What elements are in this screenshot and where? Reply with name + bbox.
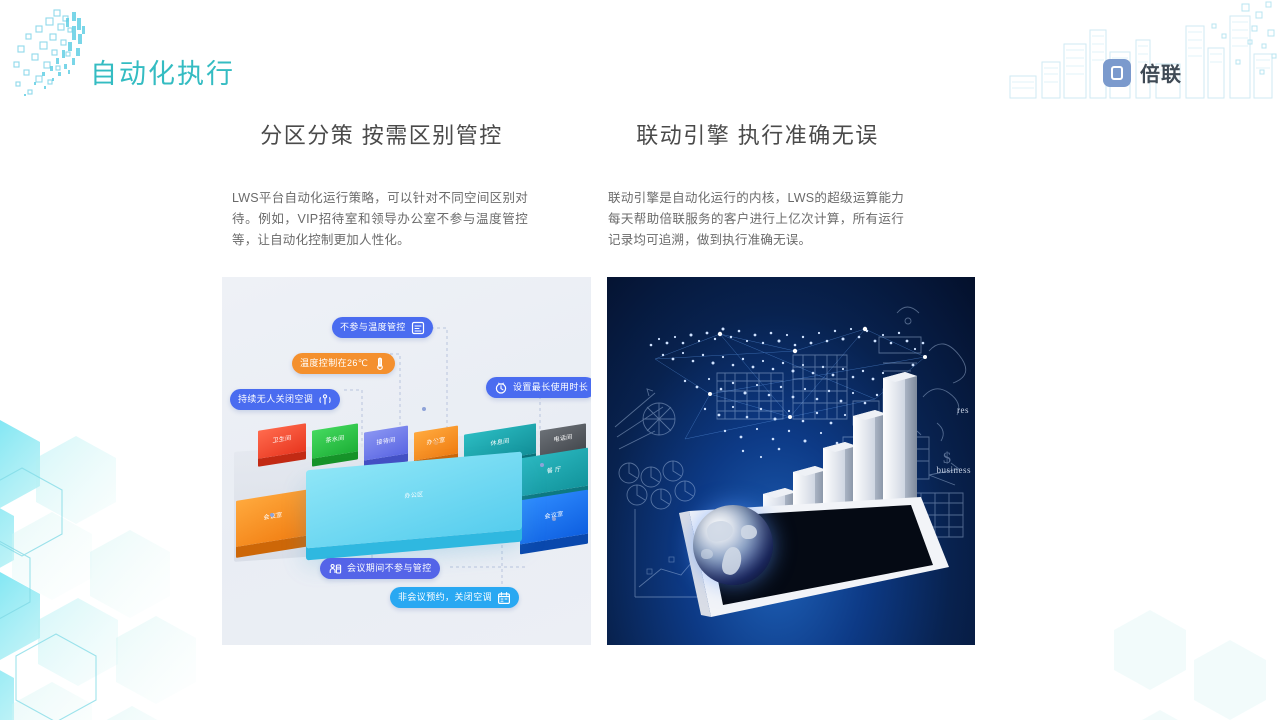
column-right-body: 联动引擎是自动化运行的内核，LWS的超级运算能力每天帮助倍联服务的客户进行上亿次…	[608, 188, 904, 251]
pill-no-temp-control[interactable]: 不参与温度管控	[332, 317, 433, 338]
globe-graphic	[693, 505, 773, 585]
slide-root: 自动化执行 倍联 分区分策 按需区别管控 LWS平台自动化运行策略，可以针对不同…	[0, 0, 1280, 720]
pill-label: 不参与温度管控	[340, 323, 406, 332]
rounded-square-logo-icon	[1103, 59, 1131, 87]
room-label: 餐 厅	[547, 463, 562, 474]
pill-label: 设置最长使用时长	[513, 383, 588, 392]
pill-temp-26[interactable]: 温度控制在26℃	[292, 353, 395, 374]
meeting-people-icon	[328, 562, 342, 576]
anchor-dot	[422, 407, 426, 411]
room-label: 办公区	[405, 489, 424, 500]
floor-plan-figure: 不参与温度管控 温度控制在26℃ 持续无人关闭空调	[222, 277, 591, 645]
brand-logo: 倍联	[1103, 58, 1182, 87]
room-label: 茶水间	[326, 432, 345, 444]
occupancy-sensor-icon	[318, 393, 332, 407]
pill-meeting-exempt[interactable]: 会议期间不参与管控	[320, 558, 440, 579]
pill-max-duration[interactable]: 设置最长使用时长	[486, 377, 591, 398]
city-skyline-decoration	[990, 0, 1280, 110]
hexagon-pattern-right-decoration	[1090, 600, 1280, 720]
clock-timer-icon	[494, 381, 508, 395]
pill-label: 会议期间不参与管控	[347, 564, 432, 573]
anchor-dot	[270, 513, 274, 517]
column-left-heading: 分区分策 按需区别管控	[231, 118, 532, 150]
room-label: 电话间	[554, 431, 573, 443]
room-label: 休息间	[491, 435, 510, 447]
anchor-dot	[540, 463, 544, 467]
room-label: 卫生间	[273, 432, 292, 444]
annotation-res: res	[957, 405, 969, 415]
pill-no-booking-ac-off[interactable]: 非会议预约，关闭空调	[390, 587, 519, 608]
column-right-heading: 联动引擎 执行准确无误	[607, 118, 908, 150]
calendar-clock-icon	[497, 591, 511, 605]
anchor-dot	[434, 441, 438, 445]
column-left: 分区分策 按需区别管控 LWS平台自动化运行策略，可以针对不同空间区别对待。例如…	[232, 118, 532, 251]
room-label: 接待间	[377, 434, 396, 446]
anchor-dot	[552, 517, 556, 521]
pill-label: 持续无人关闭空调	[238, 395, 313, 404]
thermometer-icon	[373, 357, 387, 371]
column-right: 联动引擎 执行准确无误 联动引擎是自动化运行的内核，LWS的超级运算能力每天帮助…	[608, 118, 908, 251]
pill-label: 温度控制在26℃	[300, 359, 368, 368]
annotation-business: business	[936, 465, 971, 475]
column-left-body: LWS平台自动化运行策略，可以针对不同空间区别对待。例如，VIP招待室和领导办公…	[232, 188, 528, 251]
page-title: 自动化执行	[90, 52, 235, 91]
document-list-icon	[411, 321, 425, 335]
brand-name: 倍联	[1140, 58, 1182, 87]
pill-unoccupied-ac-off[interactable]: 持续无人关闭空调	[230, 389, 340, 410]
pill-label: 非会议预约，关闭空调	[398, 593, 492, 602]
analytics-visual-figure: $	[607, 277, 975, 645]
